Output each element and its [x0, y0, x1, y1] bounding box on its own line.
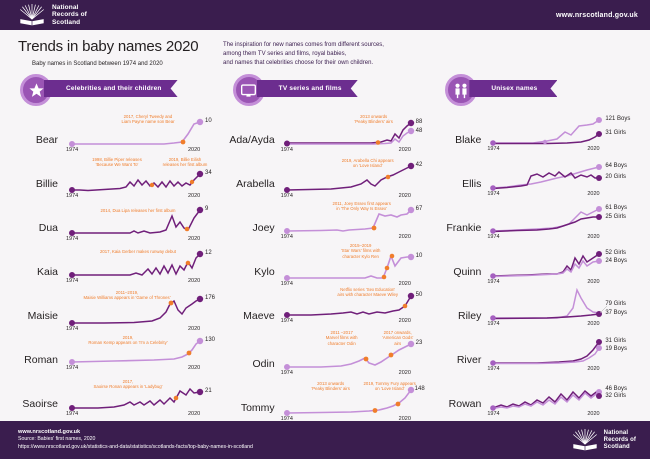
axis-start-year: 1974 [281, 193, 293, 199]
chart-row: Maeve Netflix series 'Sex Education' air… [223, 288, 428, 332]
chart-plot[interactable]: 2011, Joey Essex first appears in 'The O… [281, 200, 428, 244]
chart-name-label: Quinn [435, 244, 487, 278]
chart-row: Quinn 52 Girls 24 Boys 1974 2020 [435, 244, 640, 288]
axis-end-year: 2020 [399, 318, 411, 324]
chart-name-label: Blake [435, 112, 487, 146]
top-header-bar: National Records of Scotland www.nrscotl… [0, 0, 650, 30]
chart-row: Odin 2011 –2017 Marvel films with charac… [223, 332, 428, 380]
chart-end-value: 42 [416, 162, 423, 168]
page-title: Trends in baby names 2020 [18, 38, 223, 55]
chart-end-value: 48 [416, 128, 423, 134]
chart-end-value: 88 [416, 119, 423, 125]
chart-row: Arabella 2019, Arabella Chi appears on '… [223, 156, 428, 200]
chart-name-label: Odin [223, 332, 281, 370]
chart-end-value: 130 [205, 337, 215, 343]
section-header-celebrities: Celebrities and their children [10, 74, 215, 108]
section-header-tv: TV series and films [223, 74, 428, 108]
section-unisex-names: Unisex names Blake 121 Boys 31 Girls 197… [431, 74, 644, 424]
axis-end-year: 2020 [188, 193, 200, 199]
axis-end-year: 2020 [188, 147, 200, 153]
chart-plot[interactable]: 2015–2019 'Star Wars' films with charact… [281, 244, 428, 288]
chart-name-label: Dua [10, 200, 64, 234]
axis-end-year: 2020 [188, 278, 200, 284]
chart-end-value: 10 [205, 118, 212, 124]
chart-row: Kylo 2015–2019 'Star Wars' films with ch… [223, 244, 428, 288]
chart-plot[interactable]: 2017, Saoirse Ronan appears in 'Ladybug'… [64, 376, 215, 420]
axis-end-year: 2020 [587, 146, 599, 152]
chart-plot[interactable]: 2019, Arabella Chi appears on 'Love Isla… [281, 156, 428, 200]
chart-plot[interactable]: 2011–2019, Maisie Williams appears in 'G… [64, 288, 215, 332]
axis-end-year: 2020 [399, 281, 411, 287]
chart-end-value: 67 [416, 206, 423, 212]
chart-name-label: Bear [10, 112, 64, 146]
logo-line-3: Scotland [52, 19, 87, 27]
chart-name-label: Ada/Ayda [223, 112, 281, 146]
axis-start-year: 1974 [66, 411, 78, 417]
chart-row: Dua 2014, Dua Lipa releases her first al… [10, 200, 215, 244]
axis-start-year: 1974 [281, 234, 293, 240]
axis-end-year: 2020 [399, 193, 411, 199]
chart-plot[interactable]: 64 Boys 20 Girls 1974 2020 [487, 156, 640, 200]
chart-row: Joey 2011, Joey Essex first appears in '… [223, 200, 428, 244]
chart-row: Roman 2019, Roman Kemp appears on 'I'm a… [10, 332, 215, 376]
axis-start-year: 1974 [281, 281, 293, 287]
chart-row: Ada/Ayda 2013 onwards 'Peaky Blinders' a… [223, 112, 428, 156]
chart-row: River 31 Girls 19 Boys 1974 2020 [435, 332, 640, 376]
chart-end-value: 9 [205, 206, 208, 212]
chart-end-value: 121 Boys [605, 116, 630, 122]
axis-start-year: 1974 [487, 411, 499, 417]
chart-end-value: 37 Boys [605, 310, 627, 316]
chart-plot[interactable]: Netflix series 'Sex Education' airs with… [281, 288, 428, 332]
axis-end-year: 2020 [587, 191, 599, 197]
chart-end-value: 34 [205, 170, 212, 176]
chart-end-value: 31 Girls [605, 338, 626, 344]
chart-plot[interactable]: 46 Boys 32 Girls 1974 2020 [487, 376, 640, 420]
axis-end-year: 2020 [587, 366, 599, 372]
chart-name-label: Riley [435, 288, 487, 322]
chart-name-label: Kaia [10, 244, 64, 278]
chart-name-label: Maeve [223, 288, 281, 322]
nrs-logo-text: National Records of Scotland [52, 4, 87, 27]
axis-start-year: 1974 [487, 234, 499, 240]
axis-start-year: 1974 [487, 366, 499, 372]
chart-end-value: 79 Girls [605, 301, 626, 307]
axis-start-year: 1974 [487, 146, 499, 152]
axis-end-year: 2020 [399, 234, 411, 240]
chart-end-value: 61 Boys [605, 205, 627, 211]
chart-plot[interactable]: 52 Girls 24 Boys 1974 2020 [487, 244, 640, 288]
chart-row: Saoirse 2017, Saoirse Ronan appears in '… [10, 376, 215, 420]
chart-end-value: 52 Girls [605, 250, 626, 256]
intro-paragraph: The inspiration for new names comes from… [223, 38, 384, 68]
axis-start-year: 1974 [487, 321, 499, 327]
section-title-tv: TV series and films [257, 80, 358, 97]
chart-name-label: Saoirse [10, 376, 64, 410]
axis-start-year: 1974 [66, 365, 78, 371]
axis-start-year: 1974 [66, 236, 78, 242]
footer-bar: www.nrscotland.gov.uk Source: Babies' fi… [0, 421, 650, 459]
chart-end-value: 50 [416, 292, 423, 298]
chart-plot[interactable]: 2013 onwards 'Peaky Blinders' airs 88 48… [281, 112, 428, 156]
chart-row: Maisie 2011–2019, Maisie Williams appear… [10, 288, 215, 332]
axis-end-year: 2020 [188, 365, 200, 371]
chart-row: Riley 79 Girls 37 Boys 1974 2020 [435, 288, 640, 332]
chart-name-label: Rowan [435, 376, 487, 410]
axis-start-year: 1974 [66, 278, 78, 284]
chart-end-value: 64 Boys [605, 163, 627, 169]
footer-logo-line-1: National [604, 430, 636, 437]
chart-end-value: 12 [205, 250, 212, 256]
chart-name-label: Roman [10, 332, 64, 366]
chart-plot[interactable]: 2019, Roman Kemp appears on 'I'm a Celeb… [64, 332, 215, 376]
chart-name-label: Tommy [223, 380, 281, 414]
chart-row: Tommy 2013 onwards 'Peaky Blinders' airs… [223, 380, 428, 424]
chart-row: Ellis 64 Boys 20 Girls 1974 2020 [435, 156, 640, 200]
axis-start-year: 1974 [66, 147, 78, 153]
chart-row: Billie 1998, Billie Piper releases 'Beca… [10, 156, 215, 200]
axis-start-year: 1974 [281, 147, 293, 153]
axis-end-year: 2020 [188, 411, 200, 417]
chart-end-value: 31 Girls [605, 130, 626, 136]
axis-end-year: 2020 [399, 370, 411, 376]
nrs-logo: National Records of Scotland [18, 4, 87, 27]
chart-plot[interactable]: 61 Boys 25 Girls 1974 2020 [487, 200, 640, 244]
axis-end-year: 2020 [587, 321, 599, 327]
chart-name-label: Arabella [223, 156, 281, 190]
chart-name-label: Joey [223, 200, 281, 234]
chart-end-value: 148 [415, 386, 425, 392]
axis-start-year: 1974 [487, 279, 499, 285]
axis-start-year: 1974 [66, 193, 78, 199]
chart-plot[interactable]: 2017, Cheryl Tweedy and Liam Payne name … [64, 112, 215, 156]
axis-end-year: 2020 [587, 411, 599, 417]
axis-end-year: 2020 [587, 234, 599, 240]
footer-website-url[interactable]: www.nrscotland.gov.uk [18, 429, 253, 437]
section-celebrities: Celebrities and their children Bear 2017… [6, 74, 219, 424]
chart-plot[interactable]: 1998, Billie Piper releases 'Because We … [64, 156, 215, 200]
chart-plot[interactable]: 2013 onwards 'Peaky Blinders' airs 2019,… [281, 380, 428, 424]
open-book-sunburst-icon [18, 4, 46, 26]
logo-line-2: Records of [52, 11, 87, 19]
chart-plot[interactable]: 121 Boys 31 Girls 1974 2020 [487, 112, 640, 156]
chart-plot[interactable]: 2014, Dua Lipa releases her first album … [64, 200, 215, 244]
title-block: Trends in baby names 2020 Baby names in … [0, 30, 650, 68]
open-book-sunburst-icon [571, 429, 599, 451]
chart-row: Frankie 61 Boys 25 Girls 1974 2020 [435, 200, 640, 244]
chart-end-value: 23 [416, 340, 423, 346]
chart-end-value: 32 Girls [605, 393, 626, 399]
section-tv-series-films: TV series and films Ada/Ayda 2013 onward… [219, 74, 432, 424]
chart-end-value: 176 [205, 295, 215, 301]
footer-logo-text: National Records of Scotland [604, 430, 636, 451]
chart-plot[interactable]: 31 Girls 19 Boys 1974 2020 [487, 332, 640, 376]
chart-end-value: 10 [416, 253, 423, 259]
chart-row: Kaia 2017, Kaia Gerber makes runway debu… [10, 244, 215, 288]
footer-text-block: www.nrscotland.gov.uk Source: Babies' fi… [18, 429, 253, 452]
axis-start-year: 1974 [281, 318, 293, 324]
chart-name-label: Frankie [435, 200, 487, 234]
section-header-unisex: Unisex names [435, 74, 640, 108]
footer-source: Source: Babies' first names, 2020 [18, 436, 253, 444]
chart-plot[interactable]: 2011 –2017 Marvel films with character O… [281, 332, 428, 380]
footer-link[interactable]: https://www.nrscotland.gov.uk/statistics… [18, 444, 253, 452]
axis-start-year: 1974 [487, 191, 499, 197]
chart-plot[interactable]: 79 Girls 37 Boys 1974 2020 [487, 288, 640, 332]
axis-end-year: 2020 [188, 236, 200, 242]
page-subtitle: Baby names in Scotland between 1974 and … [32, 61, 223, 67]
chart-end-value: 46 Boys [605, 386, 627, 392]
chart-row: Bear 2017, Cheryl Tweedy and Liam Payne … [10, 112, 215, 156]
chart-name-label: Billie [10, 156, 64, 190]
section-title-unisex: Unisex names [469, 80, 557, 97]
footer-logo-line-2: Records of [604, 437, 636, 444]
axis-end-year: 2020 [587, 279, 599, 285]
header-website-url[interactable]: www.nrscotland.gov.uk [556, 12, 638, 19]
footer-logo-line-3: Scotland [604, 444, 636, 451]
section-title-celebrities: Celebrities and their children [44, 80, 178, 97]
logo-line-1: National [52, 4, 87, 12]
chart-plot[interactable]: 2017, Kaia Gerber makes runway debut 12 … [64, 244, 215, 288]
chart-name-label: Kylo [223, 244, 281, 278]
footer-nrs-logo: National Records of Scotland [571, 429, 636, 451]
chart-row: Blake 121 Boys 31 Girls 1974 2020 [435, 112, 640, 156]
chart-name-label: Maisie [10, 288, 64, 322]
chart-name-label: River [435, 332, 487, 366]
axis-end-year: 2020 [399, 147, 411, 153]
chart-end-value: 19 Boys [605, 346, 627, 352]
chart-row: Rowan 46 Boys 32 Girls 1974 2020 [435, 376, 640, 420]
chart-end-value: 21 [205, 388, 212, 394]
chart-end-value: 20 Girls [605, 174, 626, 180]
chart-end-value: 24 Boys [605, 258, 627, 264]
chart-name-label: Ellis [435, 156, 487, 190]
chart-end-value: 25 Girls [605, 214, 626, 220]
charts-columns: Celebrities and their children Bear 2017… [0, 68, 650, 424]
axis-start-year: 1974 [281, 370, 293, 376]
